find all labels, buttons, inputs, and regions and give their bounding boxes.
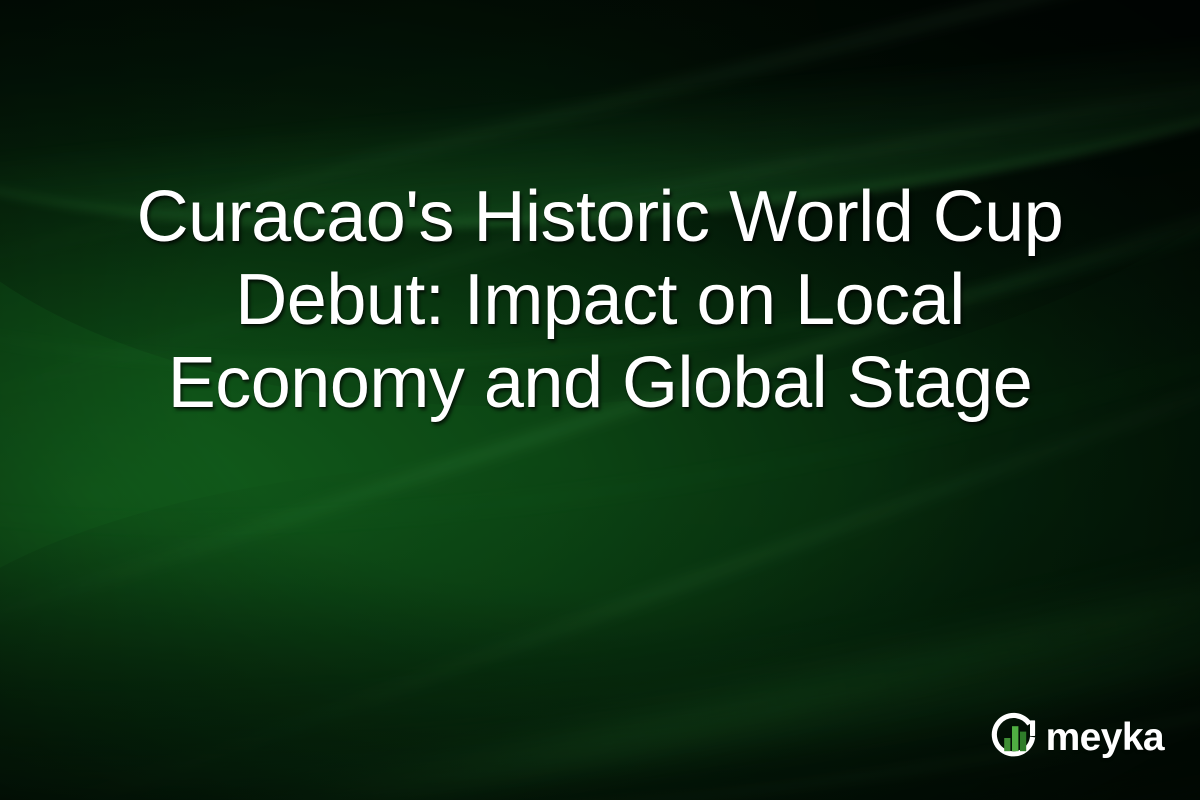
- meyka-circle-bar-chart-logo-icon: [989, 712, 1039, 762]
- logo-bar-middle: [1012, 726, 1018, 751]
- logo-bar-left: [1004, 738, 1010, 751]
- page-title: Curacao's Historic World Cup Debut: Impa…: [40, 176, 1160, 424]
- headline-container: Curacao's Historic World Cup Debut: Impa…: [0, 176, 1200, 424]
- meyka-wordmark: meyka: [1046, 718, 1164, 757]
- social-share-banner: Curacao's Historic World Cup Debut: Impa…: [0, 0, 1200, 800]
- logo-bar-right: [1020, 732, 1026, 752]
- meyka-logo[interactable]: meyka: [989, 712, 1164, 762]
- background-corner-bottom-left: [0, 528, 840, 800]
